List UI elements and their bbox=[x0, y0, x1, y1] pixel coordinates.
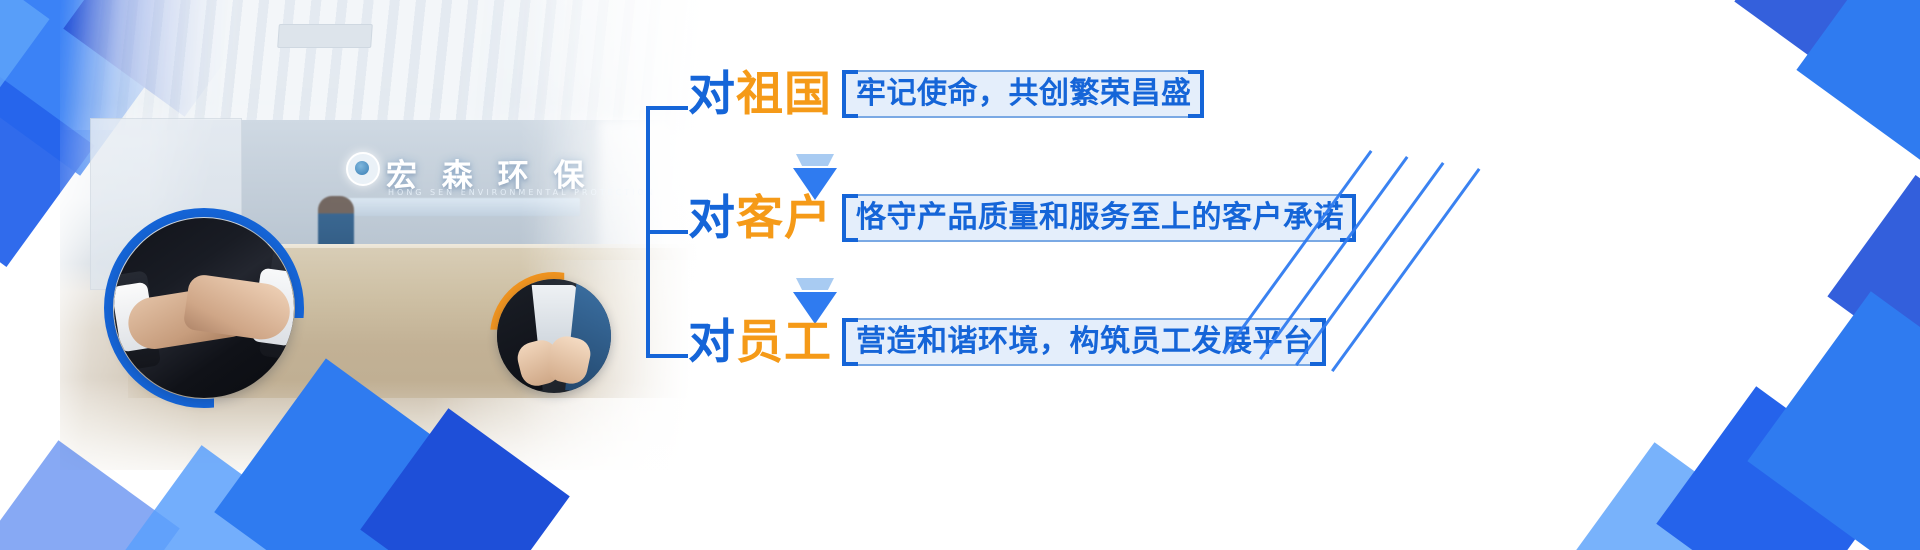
diagonal-stripes-decoration bbox=[1360, 150, 1620, 440]
down-arrow-cap-2 bbox=[796, 278, 834, 290]
ceiling-vent bbox=[277, 24, 373, 48]
value-label-customer: 对客户 bbox=[688, 195, 832, 242]
down-arrow-cap-1 bbox=[796, 154, 834, 166]
value-label-country: 对祖国 bbox=[688, 71, 832, 118]
value-phrase-country: 牢记使命，共创繁荣昌盛 bbox=[842, 70, 1204, 118]
value-row-country: 对祖国 牢记使命，共创繁荣昌盛 bbox=[688, 70, 1204, 118]
applause-photo bbox=[497, 279, 611, 393]
value-keyword-customer: 客户 bbox=[736, 191, 832, 246]
bracket-tick-2 bbox=[646, 230, 688, 234]
value-phrase-text-customer: 恪守产品质量和服务至上的客户承诺 bbox=[856, 200, 1344, 235]
phrase-top-rule-employee bbox=[858, 318, 1310, 320]
bracket-tick-3 bbox=[646, 354, 688, 358]
values-content: 对祖国 牢记使命，共创繁荣昌盛 对客户 恪守产品 bbox=[646, 70, 1866, 410]
company-values-banner: 宏 森 环 保 HONG SEN ENVIRONMENTAL PROTECTIO… bbox=[0, 0, 1920, 550]
value-keyword-employee: 员工 bbox=[736, 315, 832, 370]
value-label-employee: 对员工 bbox=[688, 319, 832, 366]
value-prefix-customer: 对 bbox=[688, 191, 736, 246]
phrase-bottom-rule-customer bbox=[858, 240, 1340, 242]
value-row-customer: 对客户 恪守产品质量和服务至上的客户承诺 bbox=[688, 194, 1356, 242]
value-phrase-text-employee: 营造和谐环境，构筑员工发展平台 bbox=[856, 324, 1314, 359]
phrase-top-rule-customer bbox=[858, 194, 1340, 196]
handshake-photo bbox=[114, 218, 294, 398]
value-phrase-employee: 营造和谐环境，构筑员工发展平台 bbox=[842, 318, 1326, 366]
phrase-bottom-rule-employee bbox=[858, 364, 1310, 366]
company-logo-icon bbox=[346, 152, 380, 186]
value-phrase-customer: 恪守产品质量和服务至上的客户承诺 bbox=[842, 194, 1356, 242]
phrase-top-rule-country bbox=[858, 70, 1188, 72]
value-prefix-employee: 对 bbox=[688, 315, 736, 370]
value-keyword-country: 祖国 bbox=[736, 67, 832, 122]
value-phrase-text-country: 牢记使命，共创繁荣昌盛 bbox=[856, 76, 1192, 111]
bracket-tick-1 bbox=[646, 106, 688, 110]
phrase-bottom-rule-country bbox=[858, 116, 1188, 118]
value-prefix-country: 对 bbox=[688, 67, 736, 122]
